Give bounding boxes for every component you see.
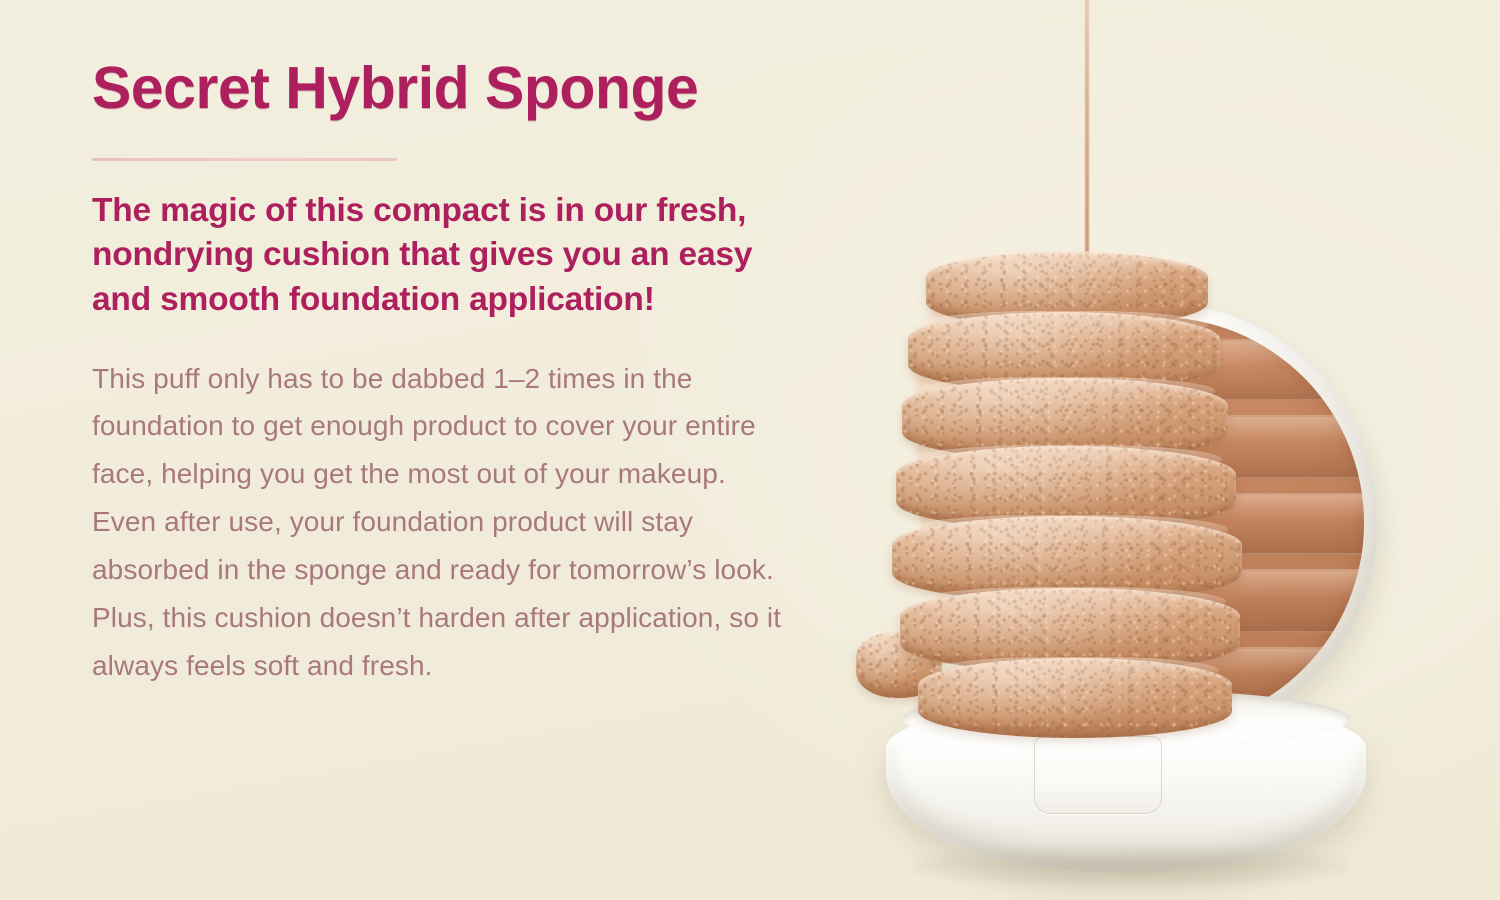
subheading: The magic of this compact is in our fres… bbox=[92, 189, 757, 323]
product-shadow bbox=[912, 846, 1352, 886]
compact-latch bbox=[1034, 736, 1162, 814]
sponge-slice-stack bbox=[890, 246, 1310, 746]
product-feature-banner: Secret Hybrid Sponge The magic of this c… bbox=[0, 0, 1500, 900]
page-title: Secret Hybrid Sponge bbox=[92, 58, 792, 120]
body-paragraph: This puff only has to be dabbed 1–2 time… bbox=[92, 355, 792, 690]
product-photo bbox=[820, 0, 1500, 900]
title-divider bbox=[92, 158, 397, 161]
sponge-slice bbox=[918, 658, 1232, 738]
text-column: Secret Hybrid Sponge The magic of this c… bbox=[92, 58, 792, 690]
